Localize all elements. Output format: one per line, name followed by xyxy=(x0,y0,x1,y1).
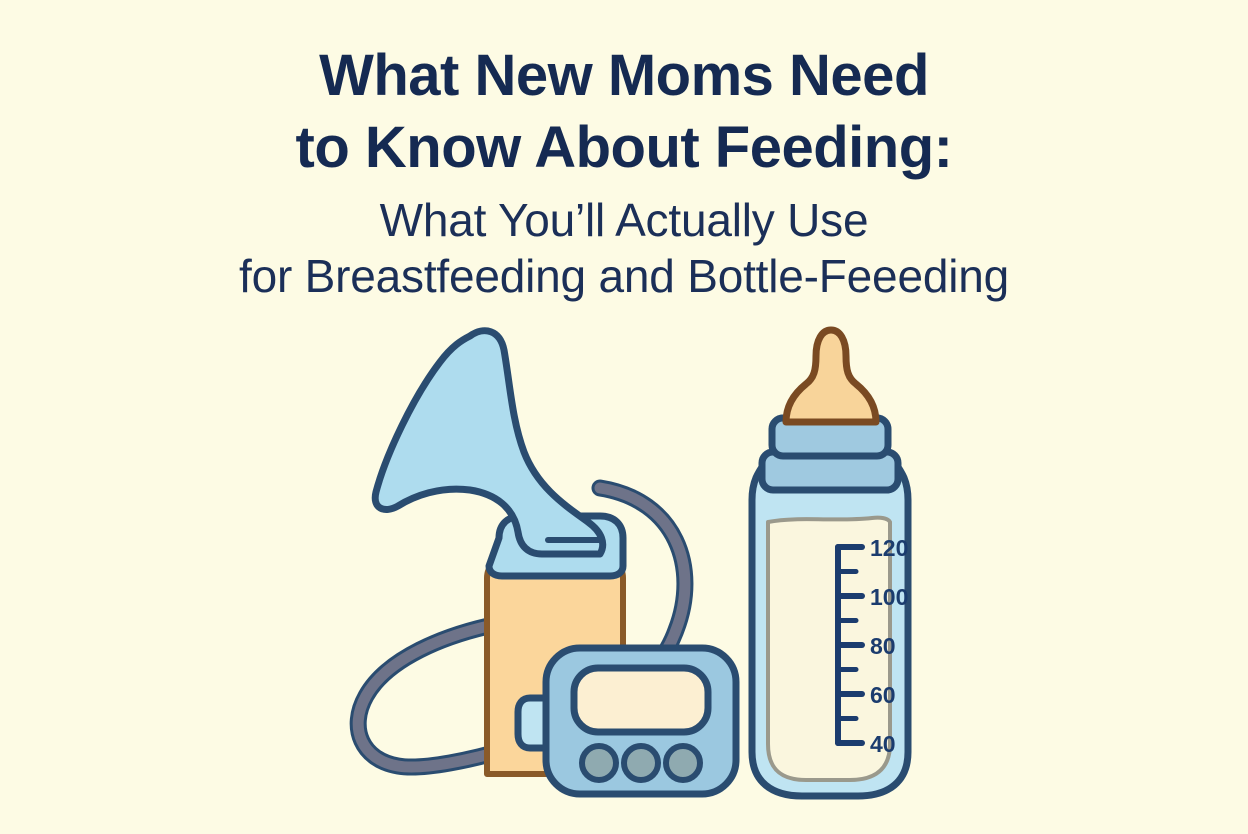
scale-label-120: 120 xyxy=(870,535,908,561)
pump-flange-icon xyxy=(375,331,602,554)
title-line-1: What New Moms Need xyxy=(0,40,1248,112)
control-button-1[interactable] xyxy=(582,746,616,780)
title-line-2: to Know About Feeding: xyxy=(0,112,1248,184)
control-button-3[interactable] xyxy=(666,746,700,780)
feeding-gear-illustration: 120 100 80 60 40 xyxy=(0,300,1248,834)
poster-canvas: What New Moms Need to Know About Feeding… xyxy=(0,0,1248,834)
pump-control-buttons[interactable] xyxy=(582,746,700,780)
subtitle-line-1: What You’ll Actually Use xyxy=(0,192,1248,248)
page-title: What New Moms Need to Know About Feeding… xyxy=(0,40,1248,184)
control-button-2[interactable] xyxy=(624,746,658,780)
pump-display-screen xyxy=(574,668,708,732)
scale-label-100: 100 xyxy=(870,584,908,610)
bottle-nipple-icon xyxy=(786,330,876,422)
scale-label-60: 60 xyxy=(870,682,896,708)
scale-label-80: 80 xyxy=(870,633,896,659)
scale-label-40: 40 xyxy=(870,731,896,757)
page-subtitle: What You’ll Actually Use for Breastfeedi… xyxy=(0,192,1248,304)
baby-bottle: 120 100 80 60 40 xyxy=(752,330,908,796)
subtitle-line-2: for Breastfeeding and Bottle-Feeeding xyxy=(0,248,1248,304)
